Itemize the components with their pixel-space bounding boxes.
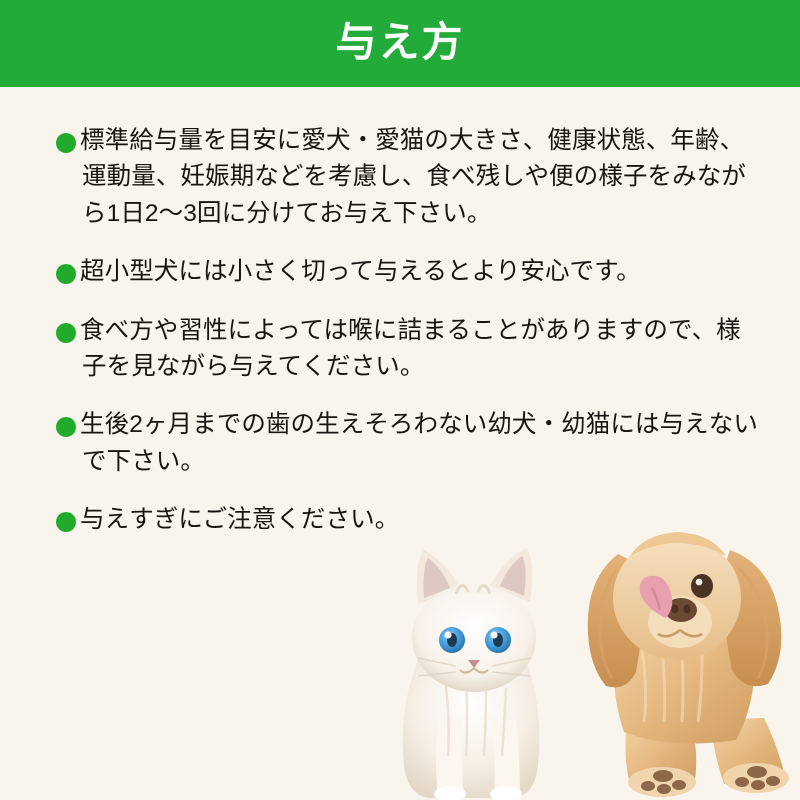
green-circle-bullet-icon bbox=[56, 133, 76, 153]
feeding-instructions-list: 標準給与量を目安に愛犬・愛猫の大きさ、健康状態、年齢、運動量、妊娠期などを考慮し… bbox=[52, 123, 760, 538]
instructions-content: 標準給与量を目安に愛犬・愛猫の大きさ、健康状態、年齢、運動量、妊娠期などを考慮し… bbox=[0, 87, 800, 800]
page-header-banner: 与え方 bbox=[0, 0, 800, 87]
green-circle-bullet-icon bbox=[56, 417, 76, 437]
list-item: 標準給与量を目安に愛犬・愛猫の大きさ、健康状態、年齢、運動量、妊娠期などを考慮し… bbox=[52, 123, 760, 232]
list-item: 超小型犬には小さく切って与えるとより安心です。 bbox=[52, 254, 760, 290]
feeding-instructions-page: 与え方 標準給与量を目安に愛犬・愛猫の大きさ、健康状態、年齢、運動量、妊娠期など… bbox=[0, 0, 800, 800]
list-item-label: 生後2ヶ月までの歯の生えそろわない幼犬・幼猫には与えないで下さい。 bbox=[82, 407, 760, 480]
green-circle-bullet-icon bbox=[56, 323, 76, 343]
green-circle-bullet-icon bbox=[56, 264, 76, 284]
list-item-label: 超小型犬には小さく切って与えるとより安心です。 bbox=[82, 254, 760, 290]
list-item: 生後2ヶ月までの歯の生えそろわない幼犬・幼猫には与えないで下さい。 bbox=[52, 407, 760, 480]
list-item-label: 食べ方や習性によっては喉に詰まることがありますので、様子を見ながら与えてください… bbox=[82, 313, 742, 386]
page-title: 与え方 bbox=[336, 22, 465, 63]
list-item: 与えすぎにご注意ください。 bbox=[52, 502, 760, 538]
list-item-label: 標準給与量を目安に愛犬・愛猫の大きさ、健康状態、年齢、運動量、妊娠期などを考慮し… bbox=[82, 123, 760, 232]
list-item-label: 与えすぎにご注意ください。 bbox=[82, 502, 760, 538]
list-item: 食べ方や習性によっては喉に詰まることがありますので、様子を見ながら与えてください… bbox=[52, 313, 760, 386]
green-circle-bullet-icon bbox=[56, 512, 76, 532]
